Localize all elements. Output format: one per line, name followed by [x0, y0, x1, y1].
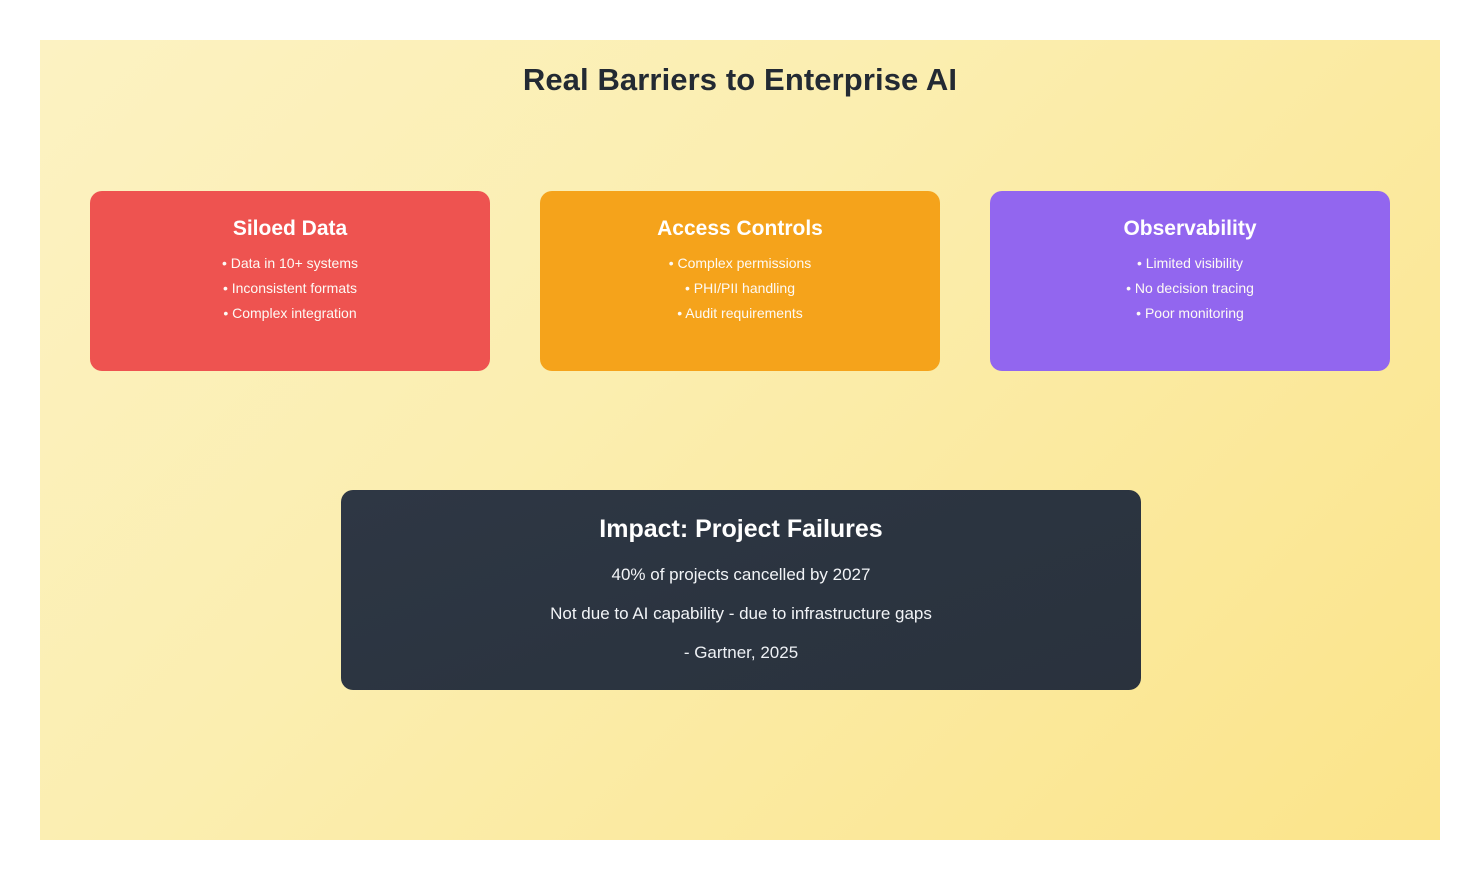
- barrier-points-list: • Data in 10+ systems • Inconsistent for…: [222, 256, 358, 320]
- barrier-card-siloed-data: Siloed Data • Data in 10+ systems • Inco…: [90, 191, 490, 371]
- barrier-card-title: Access Controls: [657, 218, 823, 239]
- impact-detail: Not due to AI capability - due to infras…: [550, 605, 932, 622]
- impact-stat: 40% of projects cancelled by 2027: [612, 566, 871, 583]
- list-item: • Complex integration: [223, 306, 356, 320]
- list-item: • Limited visibility: [1137, 256, 1243, 270]
- barrier-points-list: • Complex permissions • PHI/PII handling…: [669, 256, 812, 320]
- impact-card-body: 40% of projects cancelled by 2027 Not du…: [550, 566, 932, 661]
- slide-canvas: Real Barriers to Enterprise AI Siloed Da…: [40, 40, 1440, 840]
- list-item: • Inconsistent formats: [223, 281, 357, 295]
- barrier-points-list: • Limited visibility • No decision traci…: [1126, 256, 1254, 320]
- barriers-row: Siloed Data • Data in 10+ systems • Inco…: [90, 191, 1390, 371]
- barrier-card-title: Observability: [1123, 218, 1256, 239]
- impact-card: Impact: Project Failures 40% of projects…: [341, 490, 1141, 690]
- list-item: • PHI/PII handling: [685, 281, 795, 295]
- page-title: Real Barriers to Enterprise AI: [40, 62, 1440, 98]
- list-item: • Audit requirements: [677, 306, 803, 320]
- list-item: • No decision tracing: [1126, 281, 1254, 295]
- impact-attribution: - Gartner, 2025: [684, 644, 798, 661]
- impact-card-title: Impact: Project Failures: [599, 517, 882, 542]
- list-item: • Complex permissions: [669, 256, 812, 270]
- list-item: • Poor monitoring: [1136, 306, 1244, 320]
- list-item: • Data in 10+ systems: [222, 256, 358, 270]
- barrier-card-observability: Observability • Limited visibility • No …: [990, 191, 1390, 371]
- barrier-card-title: Siloed Data: [233, 218, 347, 239]
- barrier-card-access-controls: Access Controls • Complex permissions • …: [540, 191, 940, 371]
